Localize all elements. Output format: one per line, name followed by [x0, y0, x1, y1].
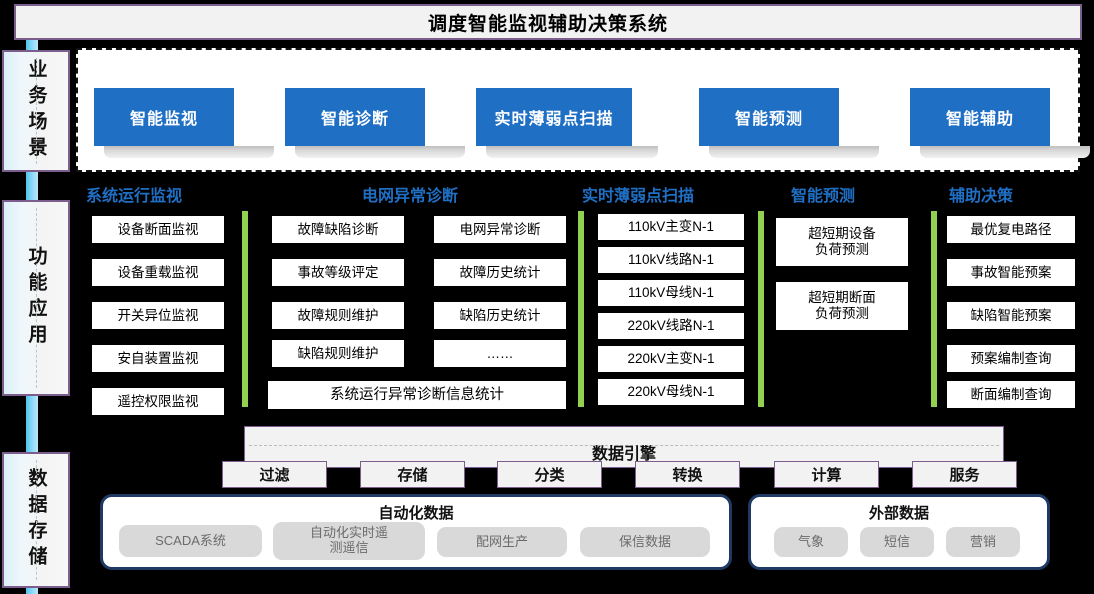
- rail-function-application: 功能应用: [2, 200, 70, 396]
- function-item[interactable]: 事故智能预案: [947, 259, 1075, 286]
- function-item[interactable]: 故障历史统计: [434, 259, 566, 286]
- section-header-realtime-weakpoint-scan: 实时薄弱点扫描: [582, 182, 694, 204]
- function-item[interactable]: 220kV母线N-1: [598, 379, 744, 405]
- function-item[interactable]: 事故等级评定: [272, 259, 404, 286]
- function-item[interactable]: 缺陷历史统计: [434, 302, 566, 329]
- function-item[interactable]: 电网异常诊断: [434, 216, 566, 243]
- divider-bar-green-3: [758, 211, 764, 407]
- function-item[interactable]: 遥控权限监视: [92, 388, 224, 415]
- scenario-card-intelligent-assist[interactable]: 智能辅助: [910, 88, 1050, 146]
- section-header-grid-anomaly-diagnosis: 电网异常诊断: [362, 182, 458, 204]
- data-source-pill-distribution-production[interactable]: 配网生产: [437, 527, 567, 557]
- divider-bar-green-4: [931, 211, 937, 407]
- engine-tab-classify[interactable]: 分类: [497, 461, 602, 488]
- page-title: 调度智能监视辅助决策系统: [428, 9, 668, 36]
- scenario-label: 智能诊断: [321, 105, 389, 129]
- data-source-pill-automation-telemetry[interactable]: 自动化实时遥 测遥信: [273, 522, 425, 560]
- function-item[interactable]: 缺陷规则维护: [272, 340, 404, 367]
- function-item[interactable]: 超短期设备 负荷预测: [776, 218, 908, 266]
- function-item[interactable]: 故障缺陷诊断: [272, 216, 404, 243]
- rail-data-storage: 数据存储: [2, 452, 70, 588]
- function-item[interactable]: 110kV主变N-1: [598, 214, 744, 240]
- function-item[interactable]: 设备重载监视: [92, 259, 224, 286]
- data-source-pill-weather[interactable]: 气象: [774, 527, 848, 557]
- rail-connector-2-3: [26, 394, 38, 454]
- rail-divider-line: [36, 58, 37, 164]
- scenario-base-1: [104, 146, 274, 158]
- function-item[interactable]: 断面编制查询: [947, 381, 1075, 408]
- function-item[interactable]: 开关异位监视: [92, 302, 224, 329]
- rail-business-scenario: 业务场景: [2, 50, 70, 172]
- divider-bar-green-1: [242, 211, 248, 407]
- scenario-base-3: [486, 146, 658, 158]
- function-item[interactable]: 110kV线路N-1: [598, 247, 744, 273]
- rail-connector-1-2: [26, 170, 38, 202]
- function-item[interactable]: 缺陷智能预案: [947, 302, 1075, 329]
- function-item[interactable]: 110kV母线N-1: [598, 280, 744, 306]
- function-item[interactable]: 预案编制查询: [947, 345, 1075, 372]
- scenario-base-2: [295, 146, 465, 158]
- engine-tab-storage[interactable]: 存储: [360, 461, 465, 488]
- scenario-label: 智能辅助: [946, 105, 1014, 129]
- function-item[interactable]: 设备断面监视: [92, 216, 224, 243]
- data-source-pill-protection-data[interactable]: 保信数据: [580, 527, 710, 557]
- scenario-label: 智能监视: [130, 105, 198, 129]
- function-item[interactable]: 安自装置监视: [92, 345, 224, 372]
- function-item-ellipsis[interactable]: ……: [434, 340, 566, 367]
- function-item[interactable]: 220kV主变N-1: [598, 346, 744, 372]
- scenario-base-5: [920, 146, 1090, 158]
- external-data-title: 外部数据: [751, 502, 1047, 523]
- function-item-wide-diagnosis-statistics[interactable]: 系统运行异常诊断信息统计: [268, 381, 566, 409]
- function-item[interactable]: 220kV线路N-1: [598, 313, 744, 339]
- data-engine-panel: 数据引擎: [244, 426, 1004, 468]
- engine-tab-service[interactable]: 服务: [912, 461, 1017, 488]
- automation-data-title: 自动化数据: [103, 502, 729, 523]
- engine-tab-transform[interactable]: 转换: [635, 461, 740, 488]
- data-source-pill-sms[interactable]: 短信: [860, 527, 934, 557]
- engine-tab-compute[interactable]: 计算: [774, 461, 879, 488]
- scenario-base-4: [709, 146, 879, 158]
- scenario-card-intelligent-diagnosis[interactable]: 智能诊断: [285, 88, 425, 146]
- scenario-card-realtime-weakpoint-scan[interactable]: 实时薄弱点扫描: [476, 88, 632, 146]
- section-header-assist-decision: 辅助决策: [949, 182, 1013, 204]
- data-source-pill-marketing[interactable]: 营销: [946, 527, 1020, 557]
- divider-bar-green-2: [578, 211, 584, 407]
- scenario-card-intelligent-forecast[interactable]: 智能预测: [699, 88, 839, 146]
- scenario-card-intelligent-monitoring[interactable]: 智能监视: [94, 88, 234, 146]
- function-item[interactable]: 故障规则维护: [272, 302, 404, 329]
- section-header-intelligent-forecast: 智能预测: [791, 182, 855, 204]
- system-title-bar: 调度智能监视辅助决策系统: [14, 4, 1082, 40]
- scenario-label: 智能预测: [735, 105, 803, 129]
- data-engine-title: 数据引擎: [245, 440, 1003, 464]
- rail-divider-line: [36, 208, 37, 388]
- function-item[interactable]: 超短期断面 负荷预测: [776, 282, 908, 330]
- section-header-system-monitoring: 系统运行监视: [86, 182, 182, 204]
- data-source-pill-scada[interactable]: SCADA系统: [119, 525, 262, 557]
- engine-tab-filter[interactable]: 过滤: [222, 461, 327, 488]
- rail-divider-line: [36, 460, 37, 580]
- scenario-label: 实时薄弱点扫描: [494, 105, 613, 129]
- function-item[interactable]: 最优复电路径: [947, 216, 1075, 243]
